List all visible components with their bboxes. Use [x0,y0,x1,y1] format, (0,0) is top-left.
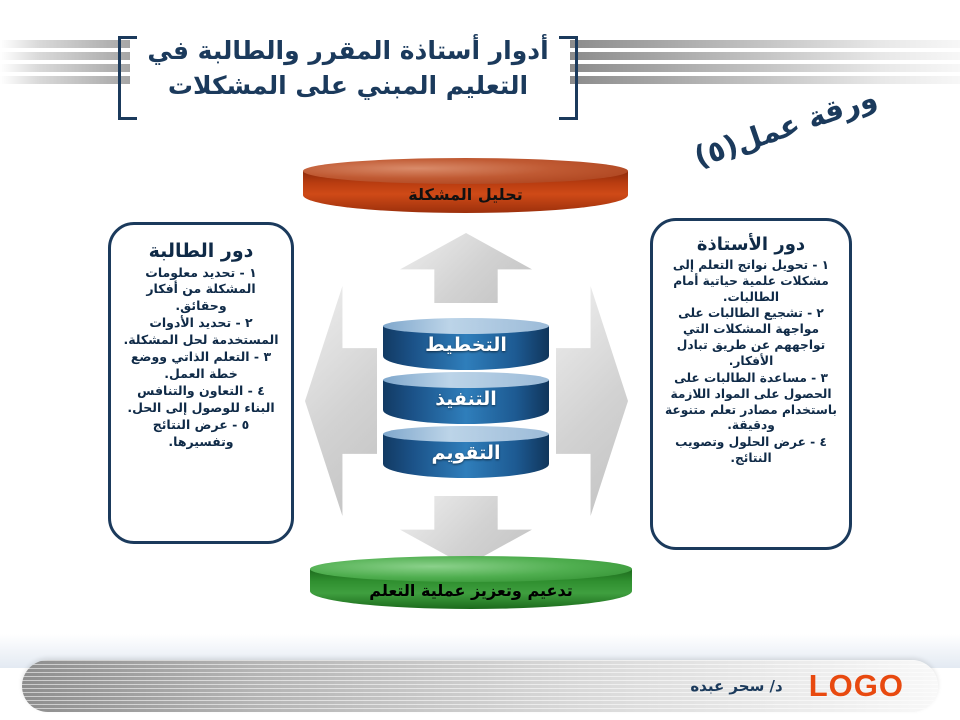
title-line-1: أدوار أستاذة المقرر والطالبة في [136,34,560,69]
disc-top-ellipse [383,426,549,442]
cylinder-top-ellipse [310,556,632,582]
list-item: ١ - تحديد معلومات المشكلة من أفكار وحقائ… [120,265,282,315]
stripe-bar [570,40,960,48]
stack-disc-planning: التخطيط [383,318,549,374]
list-item: ٥ - عرض النتائج وتفسيرها. [120,417,282,450]
list-item: ٣ - مساعدة الطالبات على الحصول على الموا… [661,371,841,434]
disc-label: التنفيذ [383,388,549,410]
logo: LOGO [809,668,904,704]
cylinder-top-ellipse [303,158,628,184]
page-title: أدوار أستاذة المقرر والطالبة في التعليم … [136,34,560,103]
stripe-bar [570,52,960,60]
student-role-list: ١ - تحديد معلومات المشكلة من أفكار وحقائ… [120,265,282,451]
list-item: ٢ - تحديد الأدوات المستخدمة لحل المشكلة. [120,315,282,348]
stripe-bar [0,52,130,60]
disc-label: التخطيط [383,334,549,356]
bracket-right-icon [559,36,578,120]
teacher-role-box: دور الأستاذة ١ - تحويل نواتج التعلم إلى … [650,218,852,550]
arrow-right-icon [556,286,628,516]
stripe-bar [0,76,130,84]
footer-bar: LOGO د/ سحر عبده [22,660,938,712]
title-line-2: التعليم المبني على المشكلات [136,69,560,104]
arrow-left-icon [305,286,377,516]
disc-top-ellipse [383,372,549,388]
node-problem-analysis: تحليل المشكلة [303,158,628,220]
slide-canvas: أدوار أستاذة المقرر والطالبة في التعليم … [0,0,960,720]
footer-content: LOGO د/ سحر عبده [22,660,938,712]
arrow-up-icon [400,233,532,303]
bracket-left-icon [118,36,137,120]
stack-disc-implementation: التنفيذ [383,372,549,428]
student-role-title: دور الطالبة [120,241,282,262]
student-role-box: دور الطالبة ١ - تحديد معلومات المشكلة من… [108,222,294,544]
node-label: تدعيم وتعزيز عملية التعلم [310,581,632,600]
author-name: د/ سحر عبده [690,677,782,695]
disc-top-ellipse [383,318,549,334]
stripe-bar [0,64,130,72]
teacher-role-list: ١ - تحويل نواتج التعلم إلى مشكلات علمية … [661,258,841,467]
list-item: ٤ - عرض الحلول وتصويب النتائج. [661,435,841,467]
node-support-learning: تدعيم وتعزيز عملية التعلم [310,556,632,616]
disc-label: التقويم [383,442,549,464]
decorative-stripes-right [570,40,960,102]
slide-title: أدوار أستاذة المقرر والطالبة في التعليم … [118,36,578,114]
teacher-role-title: دور الأستاذة [661,235,841,255]
list-item: ٤ - التعاون والتنافس البناء للوصول إلى ا… [120,383,282,416]
stripe-bar [570,76,960,84]
list-item: ١ - تحويل نواتج التعلم إلى مشكلات علمية … [661,258,841,306]
stripe-bar [570,64,960,72]
list-item: ٢ - تشجيع الطالبات على مواجهة المشكلات ا… [661,306,841,369]
decorative-stripes-left [0,40,130,102]
stripe-bar [0,40,130,48]
list-item: ٣ - التعلم الذاتي ووضع خطة العمل. [120,349,282,382]
node-label: تحليل المشكلة [303,185,628,204]
center-process-stack: التخطيط التنفيذ التقويم [383,318,549,482]
stack-disc-evaluation: التقويم [383,426,549,482]
